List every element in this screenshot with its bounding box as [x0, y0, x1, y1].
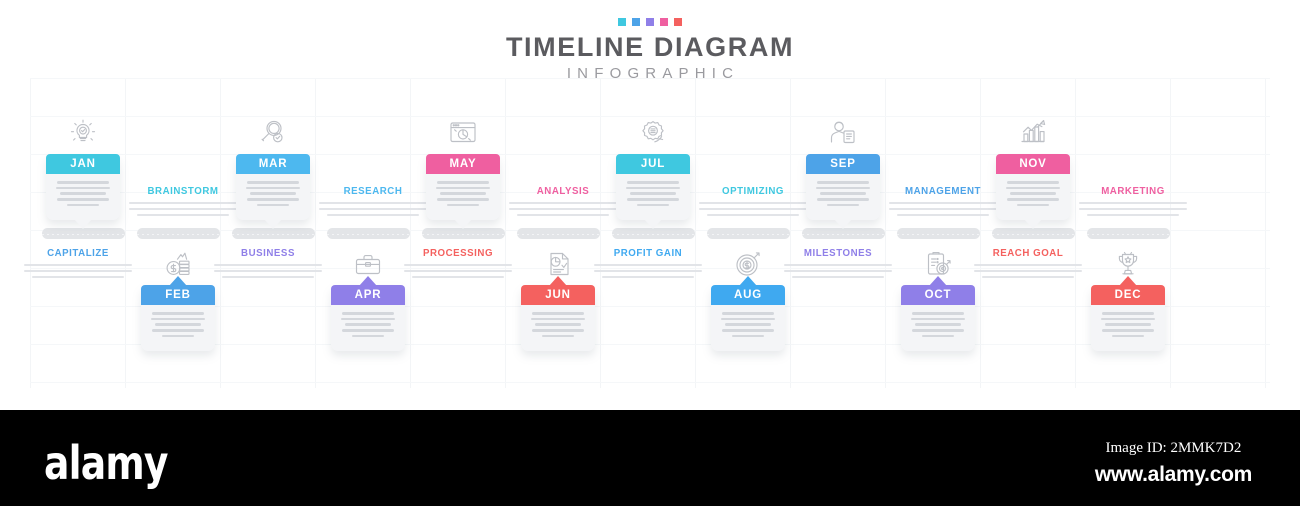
text-line — [1087, 214, 1180, 216]
alamy-url-text: www.alamy.com — [1095, 463, 1252, 487]
label-group-business: BUSINESSLorem ipsum dolorsit amestor con… — [214, 248, 322, 281]
label-group-capitalize: CAPITALIZELorem ipsum dolorsit amestor c… — [24, 248, 132, 281]
text-line — [437, 181, 488, 184]
text-line — [699, 202, 807, 204]
header-dot-3 — [646, 18, 654, 26]
text-line — [722, 312, 773, 315]
axis-segment — [137, 228, 220, 239]
label-group-reach-goal: REACH GOALLorem ipsum dolorsit amestor c… — [974, 248, 1082, 281]
text-line — [817, 198, 869, 201]
month-card-sep[interactable]: SEPLorem ipsum dolorsit amestor consecte… — [806, 154, 880, 220]
image-id-text: Image ID: 2MMK7D2 — [1095, 440, 1252, 457]
axis-segment — [802, 228, 885, 239]
section-label: MANAGEMENT — [889, 186, 997, 197]
text-line — [784, 270, 892, 272]
text-line — [250, 192, 296, 195]
text-line — [247, 181, 298, 184]
text-line — [1101, 318, 1154, 321]
axis-segment — [42, 228, 125, 239]
section-label: REACH GOAL — [974, 248, 1082, 259]
text-line — [637, 204, 669, 207]
label-group-optimizing: OPTIMIZINGLorem ipsum dolorsit amestor c… — [699, 186, 807, 219]
card-tail-down — [834, 219, 852, 229]
lightbulb-check-icon — [63, 114, 103, 150]
text-line — [1102, 329, 1154, 332]
month-badge-jun[interactable]: JUN — [521, 285, 595, 305]
badge-wrapper: AUG — [711, 285, 785, 305]
text-line — [542, 335, 574, 338]
badge-wrapper: APR — [331, 285, 405, 305]
badge-wrapper: DEC — [1091, 285, 1165, 305]
page-subtitle: INFOGRAPHIC — [0, 65, 1300, 82]
label-group-marketing: MARKETINGLorem ipsum dolorsit amestor co… — [1079, 186, 1187, 219]
month-card-jul[interactable]: JULLorem ipsum dolorsit amestor consecte… — [616, 154, 690, 220]
card-tail-down — [1024, 219, 1042, 229]
infographic-canvas: TIMELINE DIAGRAM INFOGRAPHIC JANLorem ip… — [0, 0, 1300, 410]
section-label: MARKETING — [1079, 186, 1187, 197]
header-dot-4 — [660, 18, 668, 26]
text-line — [627, 198, 679, 201]
text-line — [594, 270, 702, 272]
month-badge-feb[interactable]: FEB — [141, 285, 215, 305]
label-placeholder-lines: Lorem ipsum dolorsit amestor consectetue… — [699, 202, 807, 219]
month-badge-nov[interactable]: NOV — [996, 154, 1070, 174]
card-tail-down — [454, 219, 472, 229]
timeline-axis — [0, 228, 1300, 240]
label-group-management: MANAGEMENTLorem ipsum dolorsit amestor c… — [889, 186, 997, 219]
card-tail-down — [644, 219, 662, 229]
watermark-bar: alamy Image ID: 2MMK7D2 www.alamy.com — [0, 410, 1300, 506]
axis-segment — [232, 228, 315, 239]
text-line — [137, 214, 230, 216]
label-placeholder-lines: Lorem ipsum dolorsit amestor consectetue… — [214, 264, 322, 281]
badge-wrapper: JUN — [521, 285, 595, 305]
card-body-text: Lorem ipsum dolorsit amestor consectetue… — [426, 174, 500, 211]
text-line — [1105, 323, 1151, 326]
card-body-text: Lorem ipsum dolorsit amestor consectetue… — [331, 305, 405, 342]
text-line — [509, 202, 617, 204]
axis-segment — [707, 228, 790, 239]
label-placeholder-lines: Lorem ipsum dolorsit amestor consectetue… — [889, 202, 997, 219]
month-card-may[interactable]: MAYLorem ipsum dolorsit amestor consecte… — [426, 154, 500, 220]
footer-meta: Image ID: 2MMK7D2 www.alamy.com — [1095, 440, 1252, 487]
text-line — [912, 312, 963, 315]
text-line — [1006, 187, 1059, 190]
text-line — [155, 323, 201, 326]
text-line — [911, 318, 964, 321]
card-body-text: Lorem ipsum dolorsit amestor consectetue… — [236, 174, 310, 211]
text-line — [327, 214, 420, 216]
text-line — [626, 187, 679, 190]
text-line — [345, 323, 391, 326]
axis-segment — [992, 228, 1075, 239]
card-tail-down — [264, 219, 282, 229]
text-line — [602, 276, 695, 278]
text-line — [404, 264, 512, 266]
text-line — [1079, 202, 1187, 204]
card-body-text: Lorem ipsum dolorsit amestor consectetue… — [711, 305, 785, 342]
month-card-dec[interactable]: DECLorem ipsum dolorsit amestor consecte… — [1091, 285, 1165, 351]
label-group-processing: PROCESSINGLorem ipsum dolorsit amestor c… — [404, 248, 512, 281]
bar-chart-arrow-icon — [1013, 114, 1053, 150]
grid-line-horizontal — [30, 344, 1270, 345]
text-line — [342, 329, 394, 332]
header-dot-5 — [674, 18, 682, 26]
text-line — [319, 202, 427, 204]
axis-segment — [612, 228, 695, 239]
text-line — [1010, 192, 1056, 195]
text-line — [1112, 335, 1144, 338]
text-line — [57, 198, 109, 201]
text-line — [699, 208, 807, 210]
text-line — [24, 270, 132, 272]
text-line — [24, 264, 132, 266]
label-placeholder-lines: Lorem ipsum dolorsit amestor consectetue… — [974, 264, 1082, 281]
month-card-feb[interactable]: FEBLorem ipsum dolorsit amestor consecte… — [141, 285, 215, 351]
section-label: RESEARCH — [319, 186, 427, 197]
text-line — [630, 192, 676, 195]
month-card-apr[interactable]: APRLorem ipsum dolorsit amestor consecte… — [331, 285, 405, 351]
magnifier-check-icon — [253, 114, 293, 150]
alamy-logo: alamy — [44, 436, 168, 490]
section-label: PROFIT GAIN — [594, 248, 702, 259]
label-placeholder-lines: Lorem ipsum dolorsit amestor consectetue… — [404, 264, 512, 281]
axis-segment — [897, 228, 980, 239]
text-line — [152, 312, 203, 315]
text-line — [129, 202, 237, 204]
text-line — [32, 276, 125, 278]
grid-line-horizontal — [30, 382, 1270, 383]
card-body-text: Lorem ipsum dolorsit amestor consectetue… — [806, 174, 880, 211]
axis-segment — [1087, 228, 1170, 239]
text-line — [974, 270, 1082, 272]
gear-refresh-icon — [633, 114, 673, 150]
label-placeholder-lines: Lorem ipsum dolorsit amestor consectetue… — [24, 264, 132, 281]
axis-segment — [327, 228, 410, 239]
section-label: BRAINSTORM — [129, 186, 237, 197]
text-line — [784, 264, 892, 266]
grid-line-horizontal — [30, 306, 1270, 307]
section-label: CAPITALIZE — [24, 248, 132, 259]
text-line — [56, 187, 109, 190]
badge-wrapper: OCT — [901, 285, 975, 305]
axis-segment — [422, 228, 505, 239]
text-line — [214, 264, 322, 266]
month-card-oct[interactable]: OCTLorem ipsum dolorsit amestor consecte… — [901, 285, 975, 351]
text-line — [222, 276, 315, 278]
label-group-analysis: ANALYSISLorem ipsum dolorsit amestor con… — [509, 186, 617, 219]
text-line — [897, 214, 990, 216]
label-placeholder-lines: Lorem ipsum dolorsit amestor consectetue… — [784, 264, 892, 281]
text-line — [627, 181, 678, 184]
text-line — [151, 318, 204, 321]
month-card-nov[interactable]: NOVLorem ipsum dolorsit amestor consecte… — [996, 154, 1070, 220]
text-line — [594, 264, 702, 266]
text-line — [531, 318, 584, 321]
month-card-mar[interactable]: MARLorem ipsum dolorsit amestor consecte… — [236, 154, 310, 220]
label-placeholder-lines: Lorem ipsum dolorsit amestor consectetue… — [129, 202, 237, 219]
text-line — [129, 208, 237, 210]
label-group-milestones: MILESTONESLorem ipsum dolorsit amestor c… — [784, 248, 892, 281]
header-dot-2 — [632, 18, 640, 26]
text-line — [162, 335, 194, 338]
header-dot-1 — [618, 18, 626, 26]
text-line — [820, 192, 866, 195]
text-line — [1079, 208, 1187, 210]
label-group-profit-gain: PROFIT GAINLorem ipsum dolorsit amestor … — [594, 248, 702, 281]
text-line — [319, 208, 427, 210]
text-line — [1007, 181, 1058, 184]
label-group-brainstorm: BRAINSTORMLorem ipsum dolorsit amestor c… — [129, 186, 237, 219]
text-line — [912, 329, 964, 332]
text-line — [732, 335, 764, 338]
label-group-research: RESEARCHLorem ipsum dolorsit amestor con… — [319, 186, 427, 219]
month-badge-jul[interactable]: JUL — [616, 154, 690, 174]
axis-segment — [517, 228, 600, 239]
text-line — [1102, 312, 1153, 315]
month-badge-dec[interactable]: DEC — [1091, 285, 1165, 305]
text-line — [412, 276, 505, 278]
section-label: BUSINESS — [214, 248, 322, 259]
text-line — [532, 329, 584, 332]
text-line — [437, 198, 489, 201]
text-line — [707, 214, 800, 216]
label-placeholder-lines: Lorem ipsum dolorsit amestor consectetue… — [1079, 202, 1187, 219]
card-body-text: Lorem ipsum dolorsit amestor consectetue… — [616, 174, 690, 211]
month-badge-may[interactable]: MAY — [426, 154, 500, 174]
text-line — [915, 323, 961, 326]
month-card-jun[interactable]: JUNLorem ipsum dolorsit amestor consecte… — [521, 285, 595, 351]
card-body-text: Lorem ipsum dolorsit amestor consectetue… — [141, 305, 215, 342]
text-line — [1007, 198, 1059, 201]
text-line — [509, 208, 617, 210]
text-line — [532, 312, 583, 315]
card-body-text: Lorem ipsum dolorsit amestor consectetue… — [521, 305, 595, 342]
label-placeholder-lines: Lorem ipsum dolorsit amestor consectetue… — [319, 202, 427, 219]
text-line — [816, 187, 869, 190]
text-line — [827, 204, 859, 207]
section-label: ANALYSIS — [509, 186, 617, 197]
text-line — [60, 192, 106, 195]
page-title: TIMELINE DIAGRAM — [0, 33, 1300, 61]
text-line — [889, 208, 997, 210]
month-badge-oct[interactable]: OCT — [901, 285, 975, 305]
month-badge-apr[interactable]: APR — [331, 285, 405, 305]
card-body-text: Lorem ipsum dolorsit amestor consectetue… — [901, 305, 975, 342]
text-line — [341, 318, 394, 321]
month-badge-mar[interactable]: MAR — [236, 154, 310, 174]
text-line — [247, 198, 299, 201]
text-line — [535, 323, 581, 326]
label-placeholder-lines: Lorem ipsum dolorsit amestor consectetue… — [594, 264, 702, 281]
month-badge-jan[interactable]: JAN — [46, 154, 120, 174]
header-dots — [0, 18, 1300, 26]
text-line — [352, 335, 384, 338]
text-line — [257, 204, 289, 207]
text-line — [721, 318, 774, 321]
card-tail-down — [74, 219, 92, 229]
card-body-text: Lorem ipsum dolorsit amestor consectetue… — [996, 174, 1070, 211]
text-line — [817, 181, 868, 184]
text-line — [440, 192, 486, 195]
text-line — [214, 270, 322, 272]
text-line — [889, 202, 997, 204]
text-line — [1017, 204, 1049, 207]
text-line — [725, 323, 771, 326]
text-line — [447, 204, 479, 207]
label-placeholder-lines: Lorem ipsum dolorsit amestor consectetue… — [509, 202, 617, 219]
person-list-icon — [823, 114, 863, 150]
text-line — [67, 204, 99, 207]
badge-wrapper: FEB — [141, 285, 215, 305]
text-line — [404, 270, 512, 272]
text-line — [974, 264, 1082, 266]
section-label: MILESTONES — [784, 248, 892, 259]
text-line — [792, 276, 885, 278]
text-line — [246, 187, 299, 190]
card-body-text: Lorem ipsum dolorsit amestor consectetue… — [46, 174, 120, 211]
text-line — [922, 335, 954, 338]
text-line — [342, 312, 393, 315]
section-label: OPTIMIZING — [699, 186, 807, 197]
text-line — [57, 181, 108, 184]
text-line — [982, 276, 1075, 278]
month-badge-sep[interactable]: SEP — [806, 154, 880, 174]
page-header: TIMELINE DIAGRAM INFOGRAPHIC — [0, 18, 1300, 82]
text-line — [517, 214, 610, 216]
text-line — [436, 187, 489, 190]
text-line — [722, 329, 774, 332]
browser-chart-icon — [443, 114, 483, 150]
card-body-text: Lorem ipsum dolorsit amestor consectetue… — [1091, 305, 1165, 342]
month-card-jan[interactable]: JANLorem ipsum dolorsit amestor consecte… — [46, 154, 120, 220]
month-badge-aug[interactable]: AUG — [711, 285, 785, 305]
section-label: PROCESSING — [404, 248, 512, 259]
month-card-aug[interactable]: AUGLorem ipsum dolorsit amestor consecte… — [711, 285, 785, 351]
text-line — [152, 329, 204, 332]
